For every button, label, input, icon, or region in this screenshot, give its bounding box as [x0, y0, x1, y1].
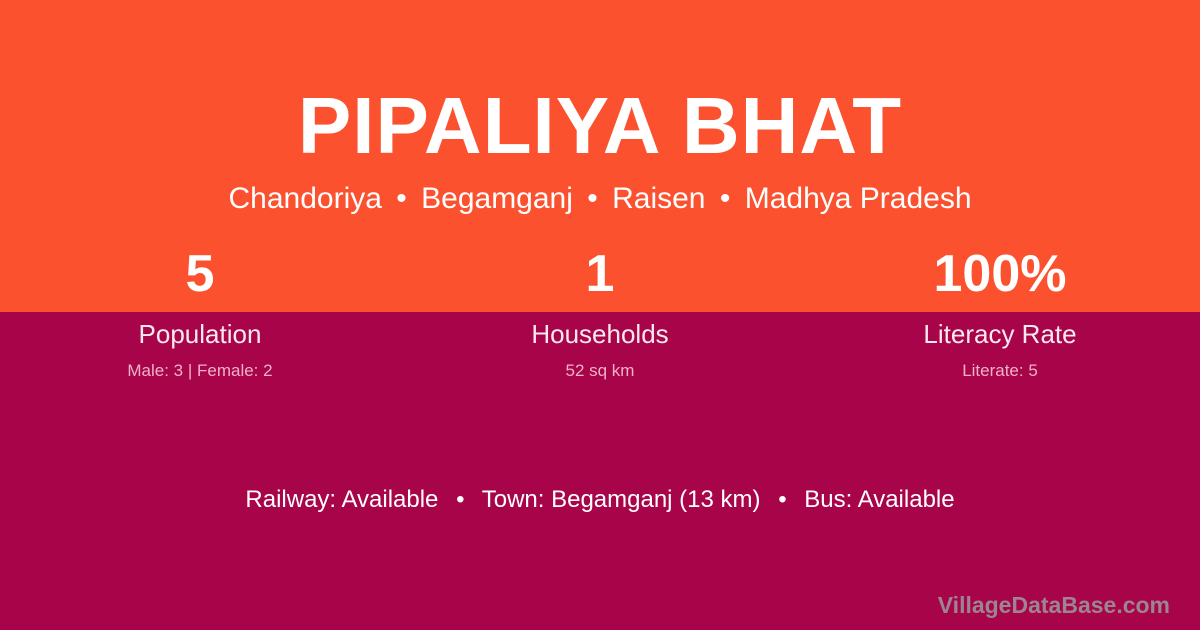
breadcrumb-item-block: Begamganj [421, 182, 573, 215]
village-info-card: PIPALIYA BHAT Chandoriya • Begamganj • R… [0, 0, 1200, 630]
breadcrumb-item-district: Raisen [612, 182, 705, 215]
amenity-bus: Bus: Available [804, 486, 954, 513]
breadcrumb: Chandoriya • Begamganj • Raisen • Madhya… [0, 179, 1200, 219]
stat-sublabel: Male: 3 | Female: 2 [0, 350, 400, 382]
stat-value: 5 [0, 243, 400, 312]
page-title: PIPALIYA BHAT [0, 80, 1200, 172]
site-branding: VillageDataBase.com [938, 590, 1170, 620]
stats-row: 5 Population Male: 3 | Female: 2 1 House… [0, 243, 1200, 382]
stat-sublabel: Literate: 5 [800, 350, 1200, 382]
stat-label: Population [0, 312, 400, 350]
amenity-separator: • [445, 486, 475, 513]
breadcrumb-item-village: Chandoriya [228, 182, 381, 215]
stat-households: 1 Households 52 sq km [400, 243, 800, 382]
stat-value: 1 [400, 243, 800, 312]
breadcrumb-item-state: Madhya Pradesh [745, 182, 972, 215]
breadcrumb-separator: • [390, 182, 413, 215]
breadcrumb-separator: • [714, 182, 737, 215]
stat-literacy-rate: 100% Literacy Rate Literate: 5 [800, 243, 1200, 382]
stat-value: 100% [800, 243, 1200, 312]
breadcrumb-separator: • [581, 182, 604, 215]
stat-label: Literacy Rate [800, 312, 1200, 350]
amenity-railway: Railway: Available [245, 486, 438, 513]
stat-label: Households [400, 312, 800, 350]
stat-sublabel: 52 sq km [400, 350, 800, 382]
amenities-line: Railway: Available • Town: Begamganj (13… [0, 485, 1200, 515]
stat-population: 5 Population Male: 3 | Female: 2 [0, 243, 400, 382]
amenity-town: Town: Begamganj (13 km) [482, 486, 761, 513]
amenity-separator: • [767, 486, 797, 513]
